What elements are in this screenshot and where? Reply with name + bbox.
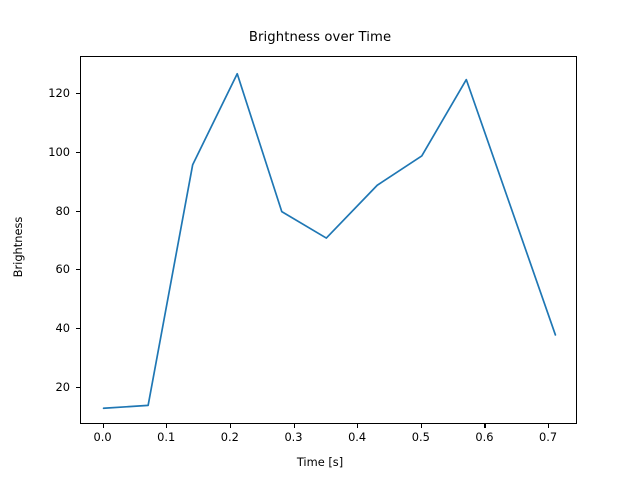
- x-tick-mark: [357, 424, 358, 428]
- page-title: Brightness over Time: [0, 30, 640, 45]
- line-series-brightness: [81, 57, 578, 425]
- y-tick-mark: [76, 269, 80, 270]
- x-tick-mark: [548, 424, 549, 428]
- y-tick-mark: [76, 328, 80, 329]
- data-polyline: [104, 74, 556, 409]
- y-axis-label: Brightness: [11, 127, 25, 367]
- chart-figure: Brightness over Time 0.00.10.20.30.40.50…: [0, 0, 640, 480]
- x-tick-label: 0.0: [73, 430, 133, 444]
- x-axis-label: Time [s]: [0, 455, 640, 469]
- x-tick-mark: [230, 424, 231, 428]
- y-tick-label: 20: [10, 380, 70, 394]
- x-tick-mark: [484, 424, 485, 428]
- x-tick-label: 0.1: [136, 430, 196, 444]
- y-tick-mark: [76, 152, 80, 153]
- y-tick-mark: [76, 211, 80, 212]
- x-tick-label: 0.2: [200, 430, 260, 444]
- x-tick-mark: [166, 424, 167, 428]
- x-tick-mark: [421, 424, 422, 428]
- x-tick-label: 0.6: [454, 430, 514, 444]
- plot-area: [80, 56, 577, 424]
- x-tick-label: 0.3: [264, 430, 324, 444]
- x-tick-label: 0.5: [391, 430, 451, 444]
- y-tick-label: 120: [10, 86, 70, 100]
- x-tick-mark: [294, 424, 295, 428]
- y-tick-mark: [76, 387, 80, 388]
- y-tick-mark: [76, 93, 80, 94]
- x-tick-label: 0.4: [327, 430, 387, 444]
- x-tick-mark: [103, 424, 104, 428]
- x-tick-label: 0.7: [518, 430, 578, 444]
